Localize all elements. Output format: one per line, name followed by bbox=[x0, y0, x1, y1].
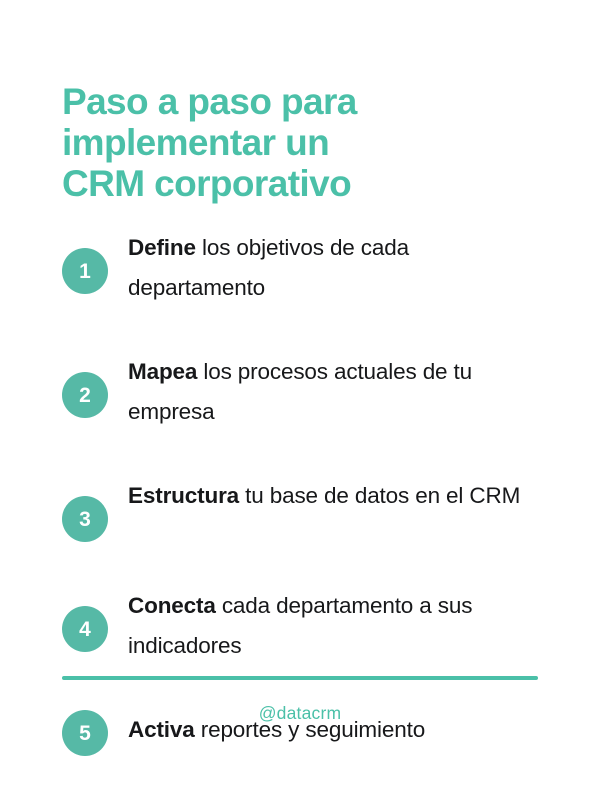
divider bbox=[62, 676, 538, 680]
step-text: Estructura tu base de datos en el CRM bbox=[128, 476, 542, 516]
step-number-badge: 1 bbox=[62, 248, 108, 294]
step-lead-word: Conecta bbox=[128, 593, 216, 618]
page-title-line-3: CRM corporativo bbox=[62, 163, 532, 204]
footer-handle: @datacrm bbox=[0, 703, 600, 724]
step-number-badge: 3 bbox=[62, 496, 108, 542]
step-number-badge: 2 bbox=[62, 372, 108, 418]
step-number-badge: 4 bbox=[62, 606, 108, 652]
step-text: Conecta cada departamento a sus indicado… bbox=[128, 586, 542, 666]
list-item: 4 Conecta cada departamento a sus indica… bbox=[62, 586, 542, 666]
step-text: Mapea los procesos actuales de tu empres… bbox=[128, 352, 542, 432]
step-lead-word: Define bbox=[128, 235, 196, 260]
step-lead-word: Estructura bbox=[128, 483, 239, 508]
step-rest-text: tu base de datos en el CRM bbox=[239, 483, 520, 508]
poster-canvas: Paso a paso para implementar un CRM corp… bbox=[0, 0, 600, 800]
page-title: Paso a paso para implementar un CRM corp… bbox=[62, 81, 532, 204]
page-title-line-2: implementar un bbox=[62, 122, 532, 163]
step-lead-word: Mapea bbox=[128, 359, 197, 384]
list-item: 2 Mapea los procesos actuales de tu empr… bbox=[62, 352, 542, 432]
page-title-line-1: Paso a paso para bbox=[62, 81, 532, 122]
list-item: 3 Estructura tu base de datos en el CRM bbox=[62, 476, 542, 542]
list-item: 1 Define los objetivos de cada departame… bbox=[62, 228, 542, 308]
step-text: Define los objetivos de cada departament… bbox=[128, 228, 542, 308]
